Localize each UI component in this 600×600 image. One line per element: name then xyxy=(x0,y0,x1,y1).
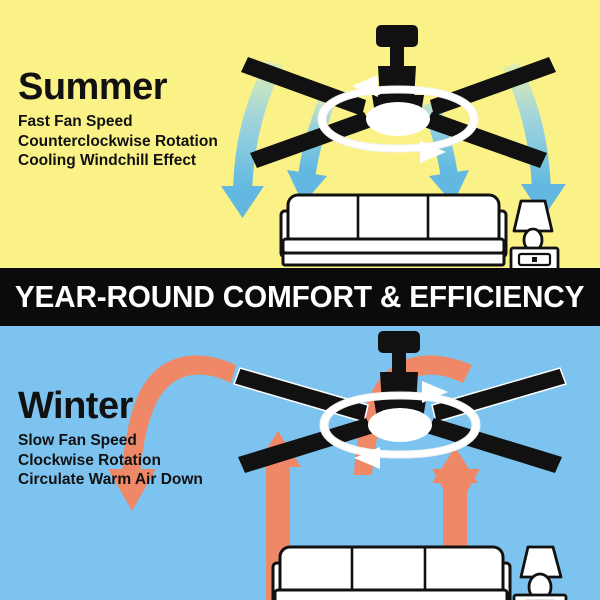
winter-bullet-2: Circulate Warm Air Down xyxy=(18,470,203,490)
winter-bullet-1: Clockwise Rotation xyxy=(18,451,203,471)
fan-canopy xyxy=(376,25,418,47)
winter-sofa xyxy=(273,547,510,600)
fan-canopy xyxy=(378,331,420,353)
lamp-shade xyxy=(521,547,561,577)
fan-light-kit xyxy=(368,408,432,442)
summer-bullet-2: Cooling Windchill Effect xyxy=(18,151,218,171)
summer-bullet-0: Fast Fan Speed xyxy=(18,112,218,132)
summer-title: Summer xyxy=(18,68,218,106)
lamp-shade xyxy=(514,201,552,231)
fan-downrod xyxy=(392,351,406,373)
summer-panel: Summer Fast Fan Speed Counterclockwise R… xyxy=(0,0,600,270)
winter-text-block: Winter Slow Fan Speed Clockwise Rotation… xyxy=(18,387,203,490)
winter-panel: Winter Slow Fan Speed Clockwise Rotation… xyxy=(0,325,600,600)
infographic-root: Summer Fast Fan Speed Counterclockwise R… xyxy=(0,0,600,600)
summer-text-block: Summer Fast Fan Speed Counterclockwise R… xyxy=(18,68,218,171)
fan-motor-housing xyxy=(378,66,416,100)
drawer-knob xyxy=(532,257,537,262)
fan-downrod xyxy=(390,45,404,67)
fan-light-kit xyxy=(366,102,430,136)
table-top xyxy=(514,595,566,600)
summer-sofa xyxy=(281,195,506,265)
banner-text: YEAR-ROUND COMFORT & EFFICIENCY xyxy=(15,279,584,315)
banner: YEAR-ROUND COMFORT & EFFICIENCY xyxy=(0,268,600,326)
summer-bullet-1: Counterclockwise Rotation xyxy=(18,132,218,152)
winter-bullet-0: Slow Fan Speed xyxy=(18,431,203,451)
winter-title: Winter xyxy=(18,387,203,425)
